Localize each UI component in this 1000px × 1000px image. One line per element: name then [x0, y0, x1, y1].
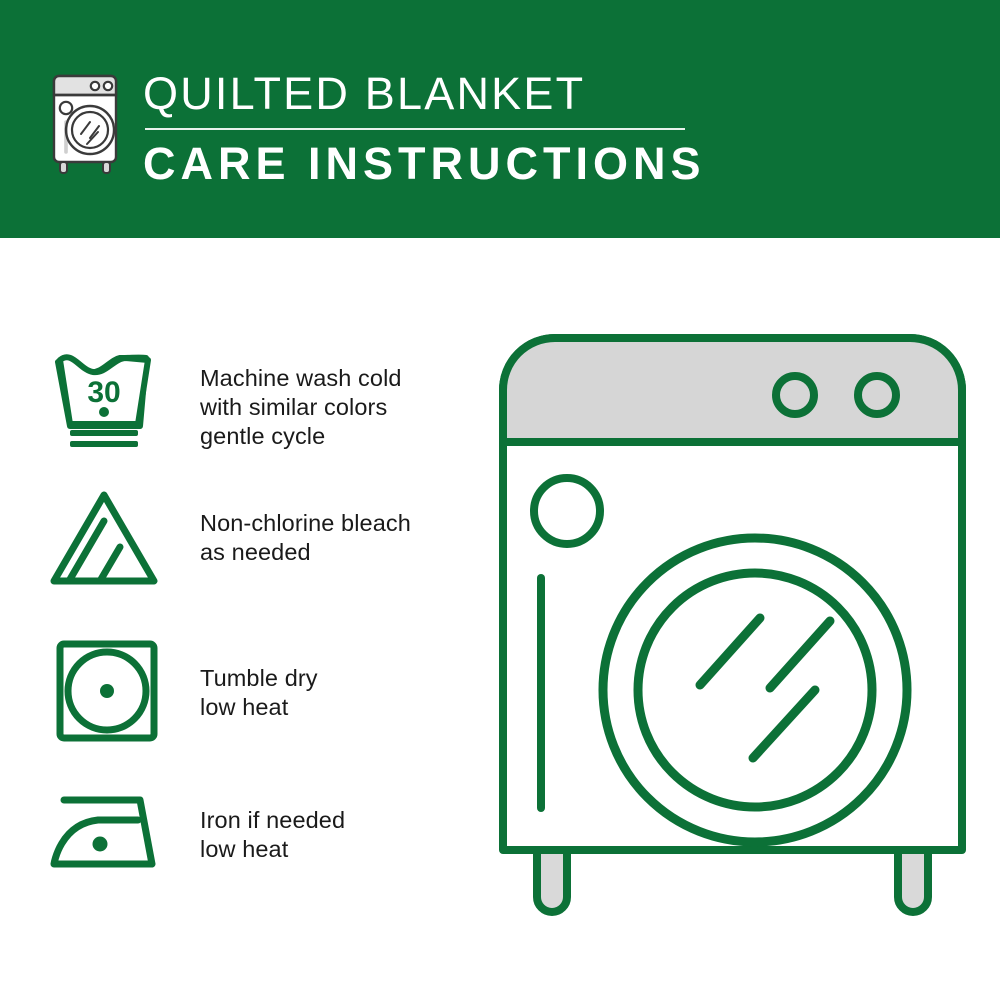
care-row-bleach: Non-chlorine bleach as needed	[0, 485, 480, 625]
header-band: QUILTED BLANKET CARE INSTRUCTIONS	[0, 0, 1000, 238]
care-row-tumble-dry: Tumble dry low heat	[0, 638, 480, 778]
detergent-port	[534, 478, 600, 544]
care-row-iron: Iron if needed low heat	[0, 780, 480, 920]
care-instruction-list: 30 Machine wash cold with similar colors…	[0, 238, 480, 1000]
care-label-tumble-dry: Tumble dry low heat	[200, 664, 318, 722]
left-knob	[776, 376, 814, 414]
header-title-group: QUILTED BLANKET CARE INSTRUCTIONS	[143, 66, 703, 192]
front-load-washing-machine-illustration	[495, 330, 970, 930]
care-label-bleach: Non-chlorine bleach as needed	[200, 509, 411, 567]
non-chlorine-bleach-icon	[48, 485, 166, 595]
page-title: QUILTED BLANKET	[143, 66, 703, 122]
care-instructions-infographic: QUILTED BLANKET CARE INSTRUCTIONS 30	[0, 0, 1000, 1000]
care-label-machine-wash: Machine wash cold with similar colors ge…	[200, 364, 402, 451]
title-divider	[145, 128, 685, 130]
care-row-machine-wash: 30 Machine wash cold with similar colors…	[0, 350, 480, 490]
right-knob	[858, 376, 896, 414]
iron-low-heat-icon	[48, 780, 166, 890]
care-label-iron: Iron if needed low heat	[200, 806, 345, 864]
washing-machine-icon	[45, 68, 137, 178]
drum-inner-ring	[638, 573, 872, 807]
page-subtitle: CARE INSTRUCTIONS	[143, 136, 703, 192]
wash-temperature-label: 30	[87, 376, 120, 409]
left-leg	[537, 850, 567, 912]
right-leg	[898, 850, 928, 912]
machine-wash-30-icon: 30	[48, 350, 166, 460]
tumble-dry-low-icon	[48, 638, 166, 748]
